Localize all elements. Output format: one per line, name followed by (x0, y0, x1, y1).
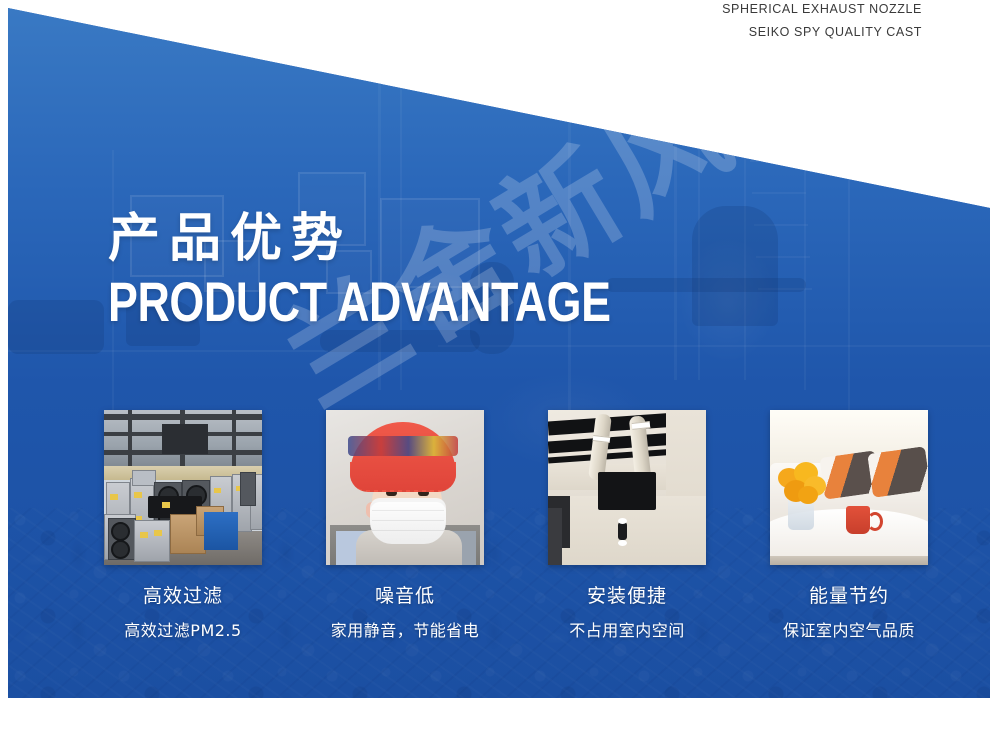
feature-subtitle: 家用静音，节能省电 (326, 617, 484, 641)
header-line-1: SPHERICAL EXHAUST NOZZLE (722, 2, 922, 16)
ceiling-duct-installation-photo (548, 410, 706, 565)
feature-card-1[interactable]: 高效过滤 高效过滤PM2.5 (104, 410, 262, 641)
blue-panel: 兰舍新风空调 产品优势 PRODUCT ADVANTAGE (8, 0, 990, 698)
warehouse-hvac-units-photo (104, 410, 262, 565)
feature-title: 能量节约 (770, 581, 928, 608)
feature-title: 高效过滤 (104, 581, 262, 608)
child-wearing-mask-photo (326, 410, 484, 565)
feature-subtitle: 不占用室内空间 (548, 617, 706, 641)
header-line-2: SEIKO SPY QUALITY CAST (749, 25, 922, 39)
ghost-chair-2 (320, 330, 480, 352)
page-title-en: PRODUCT ADVANTAGE (108, 273, 611, 330)
feature-list: 高效过滤 高效过滤PM2.5 (104, 410, 928, 641)
feature-card-3[interactable]: 安装便捷 不占用室内空间 (548, 410, 706, 641)
page-title-cn: 产品优势 (108, 212, 736, 267)
feature-card-4[interactable]: 能量节约 保证室内空气品质 (770, 410, 928, 641)
feature-subtitle: 保证室内空气品质 (770, 617, 928, 641)
feature-subtitle: 高效过滤PM2.5 (104, 617, 262, 641)
ghost-shelf-left (8, 300, 104, 354)
feature-title: 安装便捷 (548, 581, 706, 608)
living-room-interior-photo (770, 410, 928, 565)
promo-banner: SPHERICAL EXHAUST NOZZLE SEIKO SPY QUALI… (0, 0, 1000, 735)
feature-title: 噪音低 (326, 581, 484, 608)
page-title: 产品优势 PRODUCT ADVANTAGE (108, 212, 736, 330)
feature-card-2[interactable]: 噪音低 家用静音，节能省电 (326, 410, 484, 641)
